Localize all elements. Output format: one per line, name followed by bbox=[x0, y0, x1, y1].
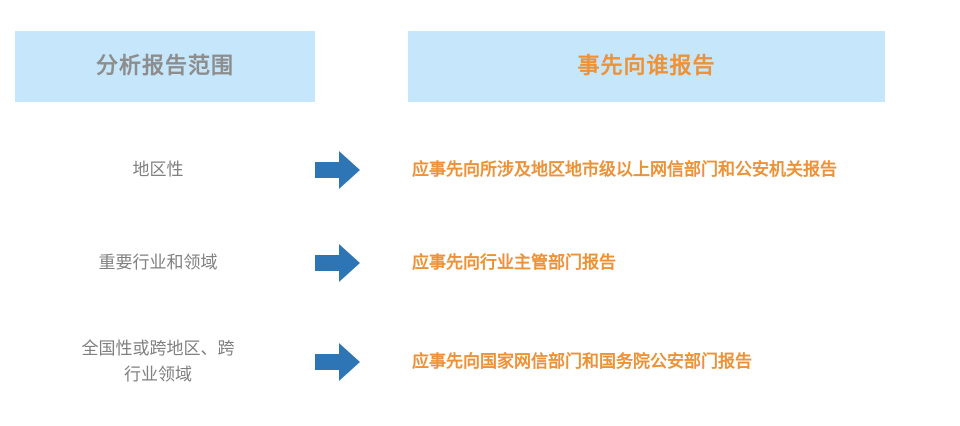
row-label-scope: 重要行业和领域 bbox=[18, 250, 298, 276]
header-box-recipient: 事先向谁报告 bbox=[408, 31, 885, 102]
diagram-header-band: 分析报告范围 事先向谁报告 bbox=[0, 31, 960, 102]
header-title-scope: 分析报告范围 bbox=[96, 53, 234, 79]
arrow-right-icon bbox=[313, 340, 363, 384]
row-label-line1: 地区性 bbox=[133, 160, 184, 179]
row-label-line2: 行业领域 bbox=[18, 362, 298, 388]
diagram-row: 地区性 应事先向所涉及地区地市级以上网信部门和公安机关报告 bbox=[0, 135, 960, 205]
arrow-right-icon bbox=[313, 148, 363, 192]
header-box-scope: 分析报告范围 bbox=[15, 31, 315, 102]
row-label-line1: 全国性或跨地区、跨 bbox=[82, 339, 235, 358]
diagram-row: 重要行业和领域 应事先向行业主管部门报告 bbox=[0, 228, 960, 298]
header-title-recipient: 事先向谁报告 bbox=[577, 53, 715, 79]
arrow-right-icon bbox=[313, 241, 363, 285]
diagram-row: 全国性或跨地区、跨 行业领域 应事先向国家网信部门和国务院公安部门报告 bbox=[0, 327, 960, 397]
row-label-scope: 全国性或跨地区、跨 行业领域 bbox=[18, 336, 298, 388]
report-scope-diagram: 分析报告范围 事先向谁报告 地区性 应事先向所涉及地区地市级以上网信部门和公安机… bbox=[0, 0, 960, 426]
row-value-recipient: 应事先向所涉及地区地市级以上网信部门和公安机关报告 bbox=[412, 157, 952, 183]
row-value-recipient: 应事先向国家网信部门和国务院公安部门报告 bbox=[412, 349, 952, 375]
row-label-scope: 地区性 bbox=[18, 157, 298, 183]
row-label-line1: 重要行业和领域 bbox=[99, 253, 218, 272]
row-value-recipient: 应事先向行业主管部门报告 bbox=[412, 250, 952, 276]
